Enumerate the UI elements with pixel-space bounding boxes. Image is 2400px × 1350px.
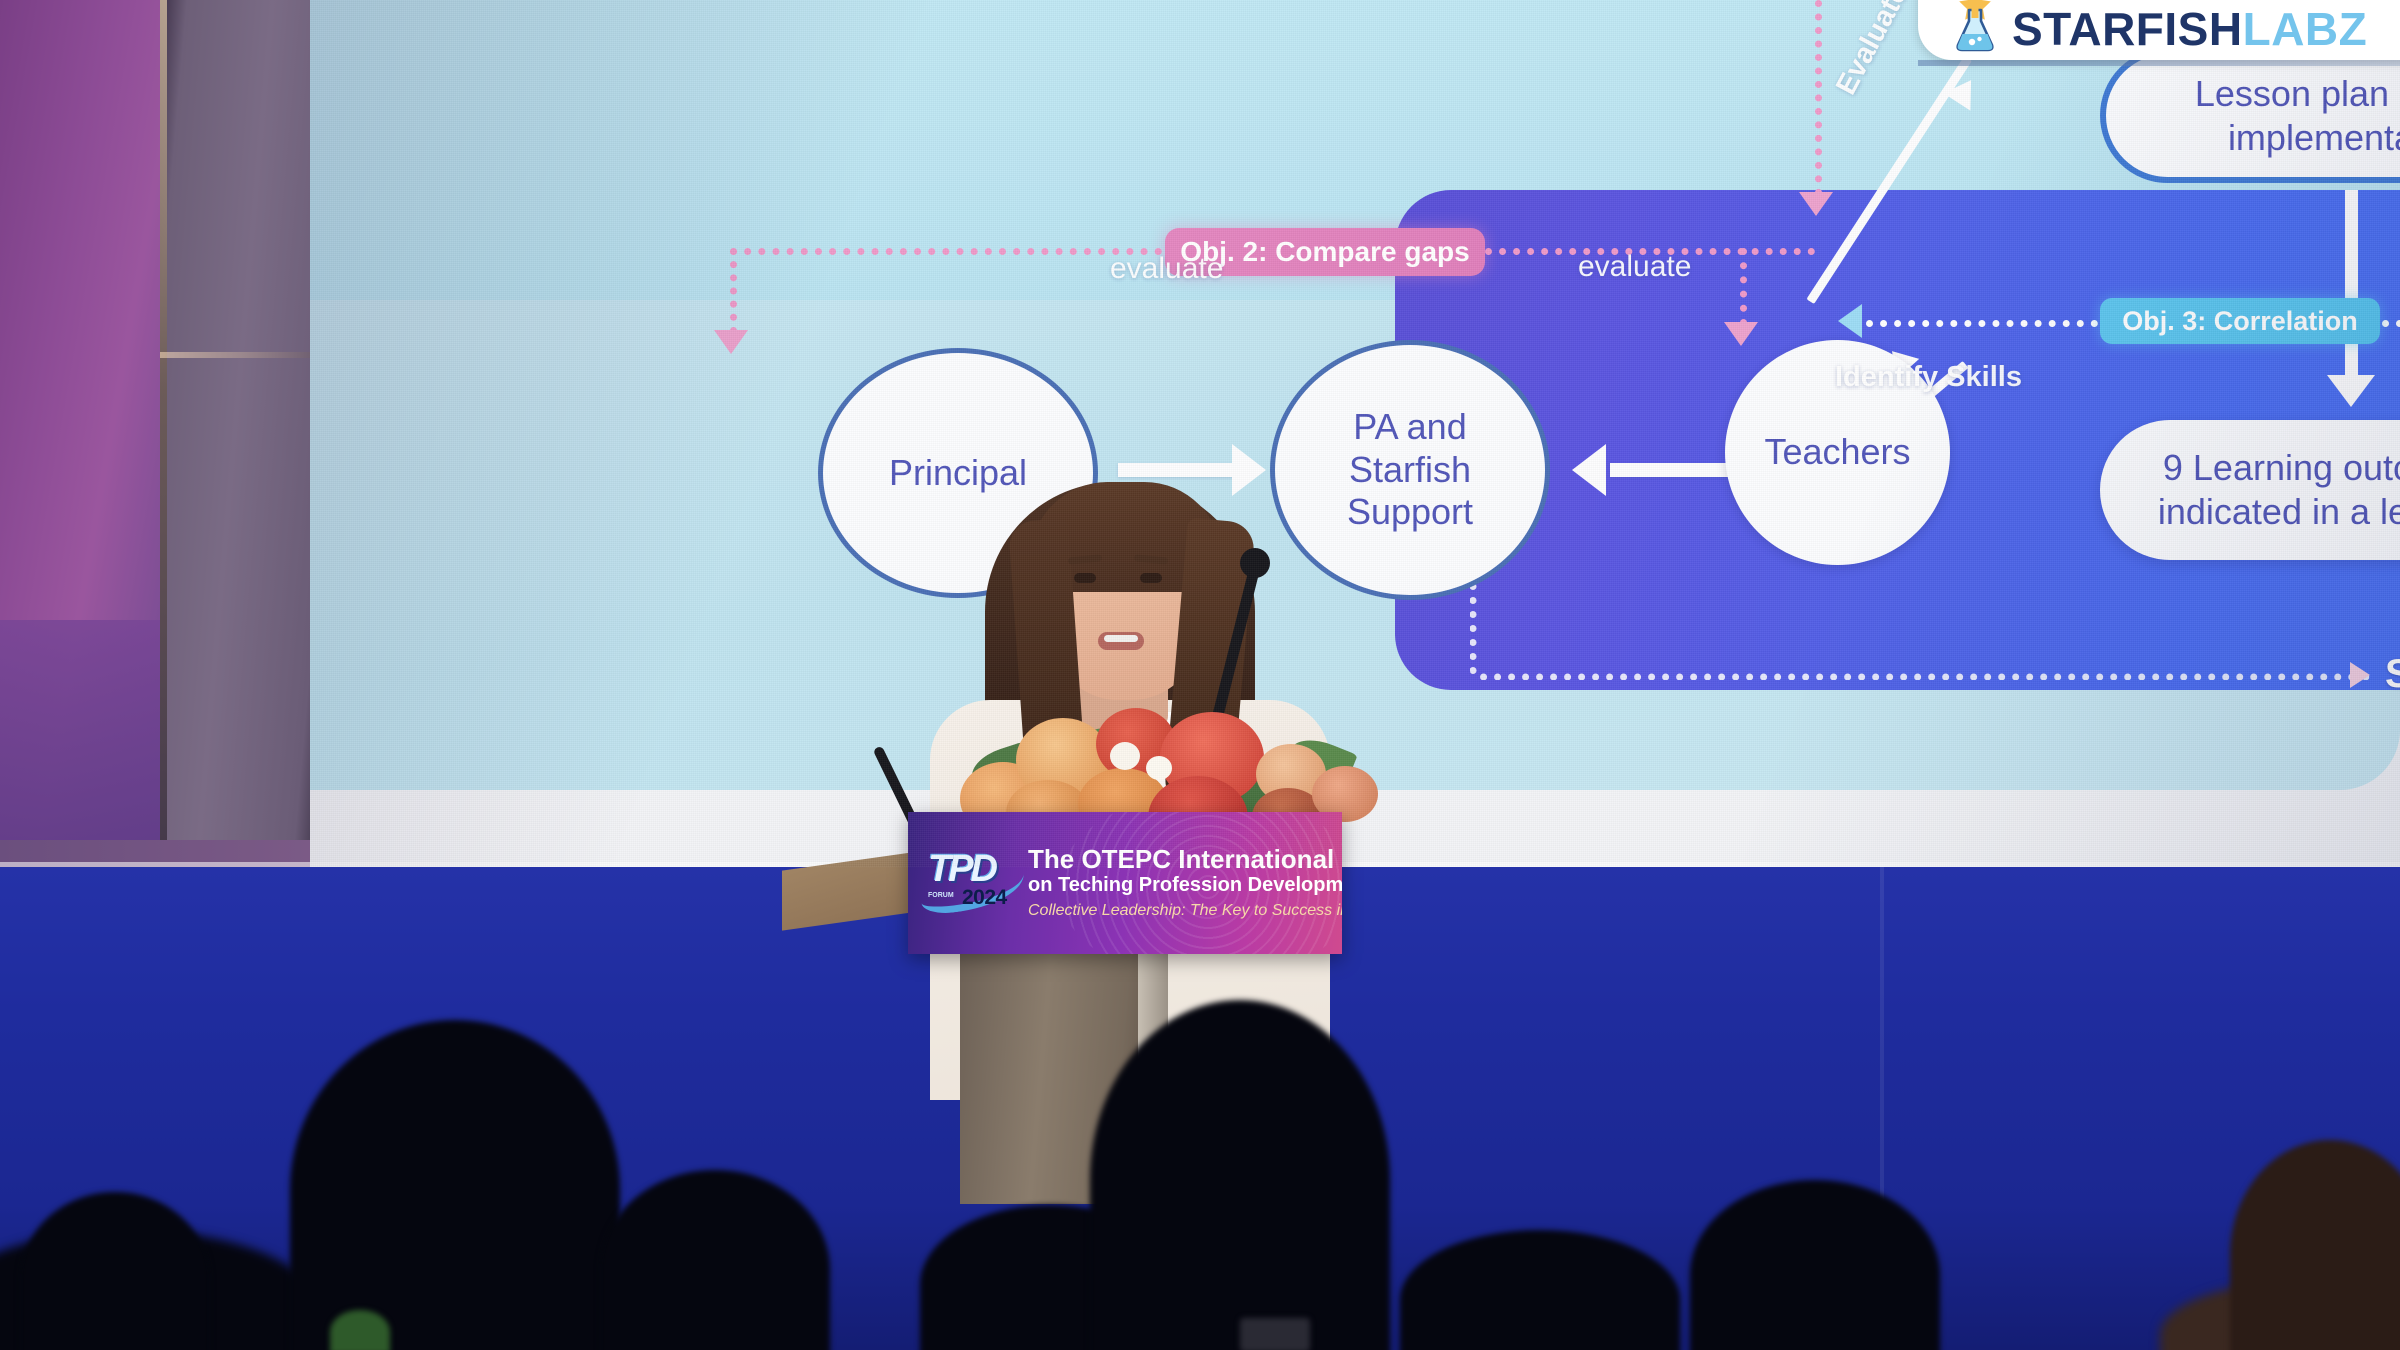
forum-title-line1: The OTEPC International Forum [1028, 844, 1332, 875]
obj2-dotted-left-run [730, 248, 1162, 255]
obj2-arrowhead-principal [714, 330, 748, 354]
arrow-principal-to-pa [1118, 463, 1236, 477]
speaker-eye-right [1140, 573, 1162, 583]
pillar-seam [160, 352, 310, 358]
node-pa-starfish-support: PA and Starfish Support [1270, 340, 1550, 600]
forum-tagline: Collective Leadership: The Key to Succes… [1028, 902, 1336, 920]
audience-head [1090, 1000, 1390, 1350]
arrow-principal-to-pa-head [1232, 444, 1266, 496]
obj2-arrowhead-b [1799, 192, 1833, 216]
obj3-arrowhead-left [1838, 304, 1862, 338]
starfish-classroom-label: Starfish Clas [2385, 652, 2400, 697]
starfishlabz-wordmark: STARFISHLABZ [2012, 6, 2367, 52]
obj3-dotted-left [1866, 320, 2098, 327]
obj2-dotted-down-a [1740, 248, 1747, 326]
flask-star-icon [1948, 0, 2002, 52]
label-evaluate-teachers: evaluate [1578, 250, 1691, 284]
arrow-lessonplan-to-outcomes-head [2327, 375, 2375, 407]
starfishlabz-logo-card[interactable]: STARFISHLABZ [1918, 0, 2400, 60]
logo-text-starfish: STARFISH [2012, 3, 2243, 55]
stage-wall-left [0, 0, 160, 870]
stage-pillar [160, 0, 310, 870]
audience-head [290, 1020, 620, 1350]
arrow-teachers-to-pa [1610, 463, 1730, 477]
obj2-dotted-down-b [1815, 0, 1822, 196]
pill-lesson-plan: Lesson plan and its implementation [2100, 48, 2400, 183]
label-identify-skills: Identify Skills [1835, 360, 1955, 395]
obj2-arrowhead-a [1724, 322, 1758, 346]
conference-photo-scene: Starfish Clas Obj. 2: Compare gaps Obj. … [0, 0, 2400, 1350]
presentation-slide: Starfish Clas Obj. 2: Compare gaps Obj. … [310, 0, 2400, 790]
pill-learning-outcomes: 9 Learning outcomes, as indicated in a l… [2100, 420, 2400, 560]
audience-device [1240, 1318, 1310, 1350]
badge-objective-3: Obj. 3: Correlation [2100, 298, 2380, 344]
logo-text-labz: LABZ [2243, 3, 2368, 55]
tpd-logo-sub: FORUM [928, 892, 954, 899]
speaker-eye-left [1074, 573, 1096, 583]
pillar-edge-highlight [160, 0, 167, 870]
audience-object-green [330, 1310, 390, 1350]
microphone-head [1240, 548, 1270, 578]
flower-small-white [1146, 756, 1172, 780]
forum-title-line2: on Teching Profession Development 2024 [1028, 874, 1332, 897]
arrow-teachers-to-pa-head [1572, 444, 1606, 496]
tpd-logo-mark: TPD [928, 848, 995, 891]
logo-card-shadow [1918, 60, 2400, 66]
speaker-mouth [1098, 632, 1144, 650]
podium-banner: TPD FORUM 2024 The OTEPC International F… [908, 812, 1342, 954]
obj3-dotted-right [2382, 320, 2400, 327]
obj2-dotted-down-principal [730, 248, 737, 334]
tpd-logo: TPD FORUM 2024 [922, 846, 1020, 918]
flower-small-white [1110, 742, 1140, 770]
starfish-class-arrowhead [2350, 662, 2370, 688]
tpd-logo-year: 2024 [962, 886, 1007, 910]
label-evaluate-principal: evaluate [1110, 252, 1223, 286]
arrow-lessonplan-to-outcomes [2345, 190, 2358, 380]
